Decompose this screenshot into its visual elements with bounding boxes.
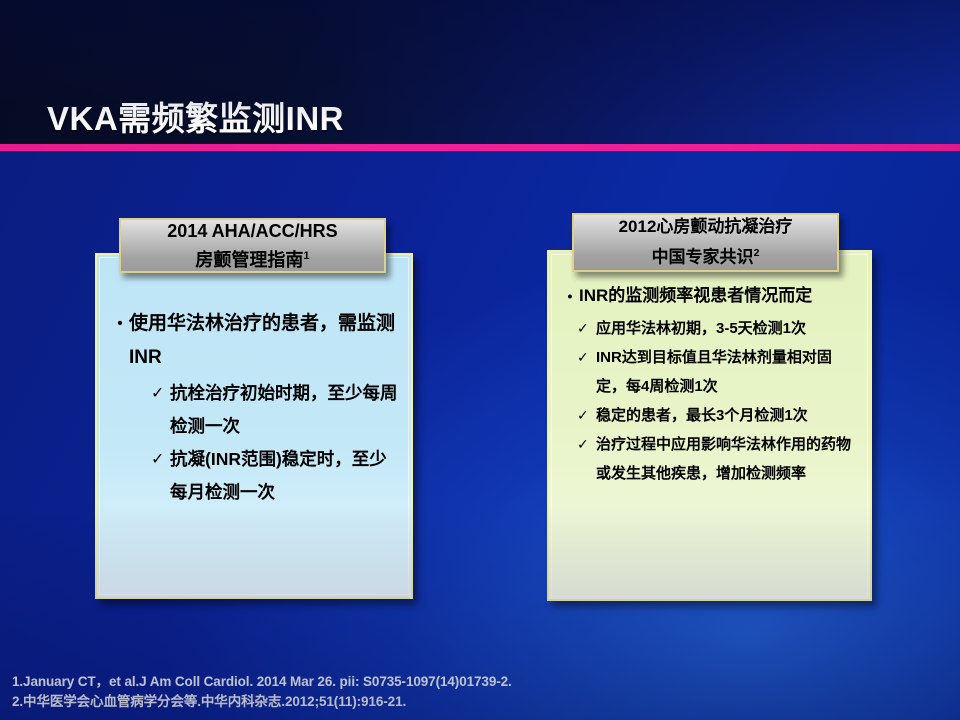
right-sub-item-3-text: 稳定的患者，最长3个月检测1次 (596, 401, 860, 430)
right-primary-bullet: • INR的监测频率视患者情况而定 (561, 282, 860, 310)
check-mark-icon: ✓ (151, 377, 170, 410)
right-sub-item-1-text: 应用华法林初期，3-5天检测1次 (596, 314, 860, 343)
right-sub-item-2-text: INR达到目标值且华法林剂量相对固定，每4周检测1次 (596, 343, 860, 401)
left-panel-body: • 使用华法林治疗的患者，需监测INR ✓ 抗栓治疗初始时期，至少每周检测一次 … (97, 307, 411, 509)
right-heading-superscript: 2 (754, 247, 760, 259)
left-sub-item-2-text: 抗凝(INR范围)稳定时，至少每月检测一次 (170, 443, 399, 509)
right-heading-line-1: 2012心房颤动抗凝治疗 (619, 214, 793, 240)
reference-footnotes: 1.January CT，et al.J Am Coll Cardiol. 20… (12, 672, 512, 712)
right-heading-line-2-text: 中国专家共识 (652, 248, 754, 267)
right-sub-item-2: ✓ INR达到目标值且华法林剂量相对固定，每4周检测1次 (577, 343, 860, 401)
check-mark-icon: ✓ (577, 401, 596, 430)
page-title: VKA需频繁监测INR (47, 92, 344, 140)
right-sub-item-4-text: 治疗过程中应用影响华法林作用的药物或发生其他疾患，增加检测频率 (596, 430, 860, 488)
check-mark-icon: ✓ (577, 430, 596, 459)
right-panel-body: • INR的监测频率视患者情况而定 ✓ 应用华法林初期，3-5天检测1次 ✓ I… (549, 282, 870, 488)
left-primary-bullet-text: 使用华法林治疗的患者，需监测INR (129, 307, 399, 375)
left-sub-item-1-text: 抗栓治疗初始时期，至少每周检测一次 (170, 377, 399, 443)
reference-line-1: 1.January CT，et al.J Am Coll Cardiol. 20… (12, 672, 512, 692)
right-sub-item-3: ✓ 稳定的患者，最长3个月检测1次 (577, 401, 860, 430)
right-sub-item-1: ✓ 应用华法林初期，3-5天检测1次 (577, 314, 860, 343)
check-mark-icon: ✓ (577, 343, 596, 372)
right-panel-heading-plaque: 2012心房颤动抗凝治疗 中国专家共识2 (572, 213, 839, 272)
right-sub-item-4: ✓ 治疗过程中应用影响华法林作用的药物或发生其他疾患，增加检测频率 (577, 430, 860, 488)
left-sub-item-2: ✓ 抗凝(INR范围)稳定时，至少每月检测一次 (151, 443, 399, 509)
presentation-slide: VKA需频繁监测INR • 使用华法林治疗的患者，需监测INR ✓ 抗栓治疗初始… (0, 0, 960, 720)
check-mark-icon: ✓ (151, 443, 170, 476)
right-heading-line-2: 中国专家共识2 (652, 240, 760, 271)
left-heading-superscript: 1 (303, 250, 309, 262)
right-consensus-panel: • INR的监测频率视患者情况而定 ✓ 应用华法林初期，3-5天检测1次 ✓ I… (547, 250, 872, 601)
left-heading-line-1: 2014 AHA/ACC/HRS (167, 219, 337, 244)
bullet-dot-icon: • (561, 282, 579, 310)
left-heading-line-2: 房颤管理指南1 (195, 244, 309, 273)
right-primary-bullet-text: INR的监测频率视患者情况而定 (579, 282, 860, 310)
bullet-dot-icon: • (111, 307, 129, 341)
left-sub-item-1: ✓ 抗栓治疗初始时期，至少每周检测一次 (151, 377, 399, 443)
check-mark-icon: ✓ (577, 314, 596, 343)
left-guideline-panel: • 使用华法林治疗的患者，需监测INR ✓ 抗栓治疗初始时期，至少每周检测一次 … (95, 253, 413, 599)
reference-line-2: 2.中华医学会心血管病学分会等.中华内科杂志.2012;51(11):916-2… (12, 692, 512, 712)
title-accent-rule (0, 144, 960, 151)
left-panel-heading-plaque: 2014 AHA/ACC/HRS 房颤管理指南1 (119, 218, 386, 273)
left-primary-bullet: • 使用华法林治疗的患者，需监测INR (111, 307, 399, 375)
left-heading-line-2-text: 房颤管理指南 (195, 250, 303, 270)
